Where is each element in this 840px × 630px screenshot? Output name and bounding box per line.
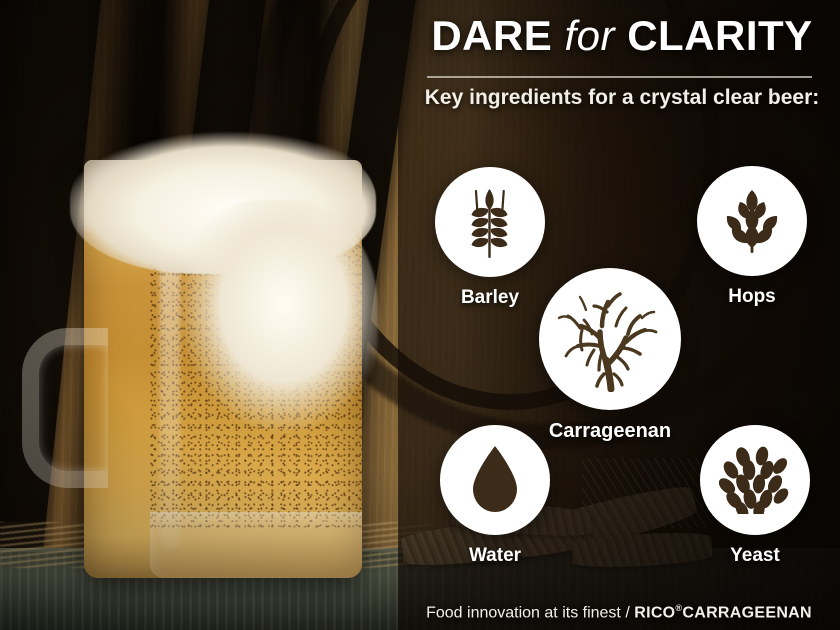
ingredient-label: Water [469, 545, 521, 567]
ingredient-label: Barley [461, 287, 519, 309]
ingredient-yeast[interactable]: Yeast [700, 425, 810, 535]
content-layer: DARE for CLARITY Key ingredients for a c… [0, 0, 840, 630]
ingredient-water[interactable]: Water [440, 425, 550, 535]
hop-cone-icon [718, 186, 786, 256]
hops-circle [697, 166, 807, 276]
barley-circle [435, 167, 545, 277]
brand-name: RICO [634, 604, 675, 621]
infographic-canvas: DARE for CLARITY Key ingredients for a c… [0, 0, 840, 630]
title-part-1: DARE [431, 12, 552, 59]
footer-tagline: Food innovation at its finest / [426, 604, 634, 621]
ingredient-carrageenan[interactable]: Carrageenan [539, 268, 681, 410]
ingredient-label: Hops [728, 286, 776, 308]
barley-stalk-icon [459, 184, 521, 260]
title-part-2: CLARITY [627, 12, 813, 59]
footer-bar: Food innovation at its finest / RICO®CAR… [398, 603, 840, 622]
yeast-circle [700, 425, 810, 535]
ingredient-label: Carrageenan [549, 420, 671, 443]
yeast-cells-icon [719, 446, 791, 514]
brand-product: CARRAGEENAN [682, 604, 812, 621]
subtitle: Key ingredients for a crystal clear beer… [410, 86, 834, 110]
carrageenan-circle [539, 268, 681, 410]
title-divider [427, 76, 812, 78]
ingredient-hops[interactable]: Hops [697, 166, 807, 276]
ingredient-label: Yeast [730, 545, 780, 567]
ingredient-barley[interactable]: Barley [435, 167, 545, 277]
water-circle [440, 425, 550, 535]
title-italic-word: for [565, 12, 616, 59]
page-title: DARE for CLARITY [418, 12, 826, 60]
water-drop-icon [467, 444, 523, 516]
seaweed-icon [556, 286, 664, 392]
